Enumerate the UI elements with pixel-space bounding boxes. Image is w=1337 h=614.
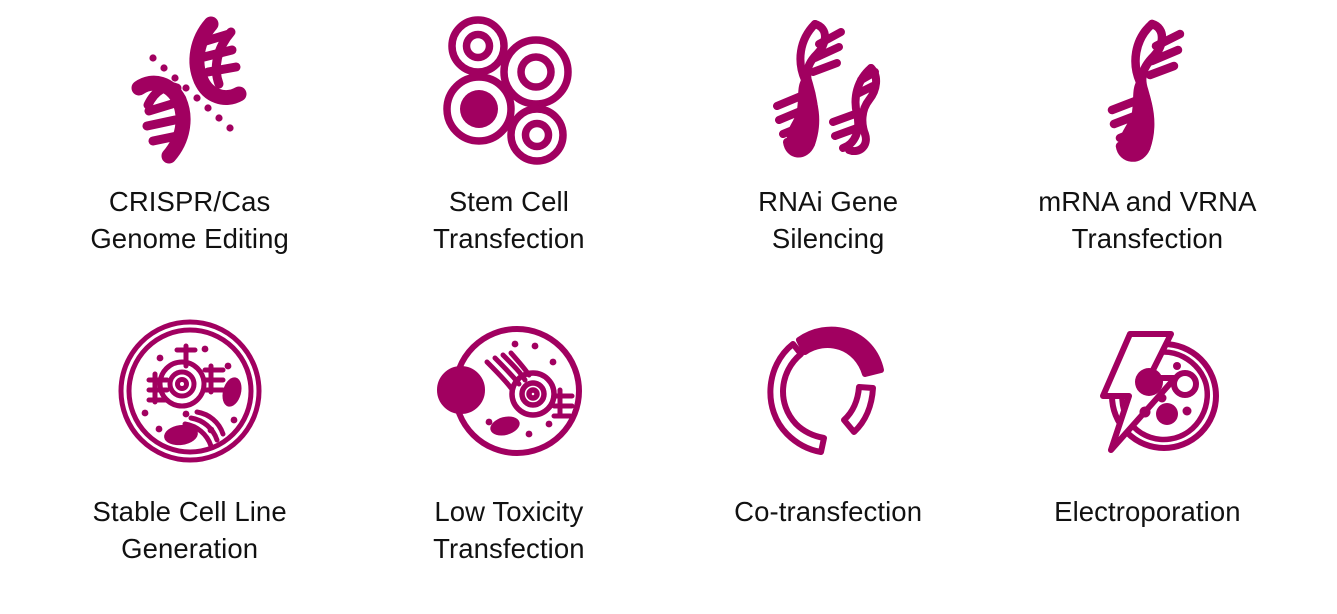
plasmid-arc-bottom-right bbox=[844, 387, 873, 432]
electroporation-icon bbox=[1067, 306, 1227, 476]
filled-blob bbox=[441, 370, 481, 410]
feature-item-rnai[interactable]: RNAi Gene Silencing bbox=[669, 6, 988, 306]
plasmid-arc-top-filled bbox=[799, 330, 881, 374]
plasmid-arc-left bbox=[771, 344, 825, 452]
rnai-strands-icon bbox=[753, 6, 903, 174]
organelle bbox=[488, 413, 522, 438]
stable-cell-line-icon bbox=[115, 306, 265, 476]
feature-item-stem-cell[interactable]: Stem Cell Transfection bbox=[349, 6, 668, 306]
filled-nucleus bbox=[460, 90, 498, 128]
feature-label: CRISPR/Cas Genome Editing bbox=[90, 184, 289, 257]
feature-item-electroporation[interactable]: Electroporation bbox=[988, 306, 1307, 606]
feature-label: Electroporation bbox=[1054, 494, 1240, 531]
feature-item-low-toxicity[interactable]: Low Toxicity Transfection bbox=[349, 306, 668, 606]
feature-grid: CRISPR/Cas Genome Editing bbox=[0, 0, 1337, 614]
feature-item-co-transfection[interactable]: Co-transfection bbox=[669, 306, 988, 606]
feature-item-mrna[interactable]: mRNA and VRNA Transfection bbox=[988, 6, 1307, 306]
feature-item-crispr[interactable]: CRISPR/Cas Genome Editing bbox=[30, 6, 349, 306]
feature-label: Stem Cell Transfection bbox=[433, 184, 585, 257]
stem-cell-colonies-icon bbox=[434, 6, 584, 174]
feature-label: RNAi Gene Silencing bbox=[758, 184, 898, 257]
low-toxicity-cell-icon bbox=[429, 306, 589, 476]
mrna-strand-icon bbox=[1082, 6, 1212, 174]
feature-label: mRNA and VRNA Transfection bbox=[1038, 184, 1256, 257]
crispr-dna-cut-icon bbox=[105, 6, 275, 174]
feature-item-stable-cell-line[interactable]: Stable Cell Line Generation bbox=[30, 306, 349, 606]
feature-label: Stable Cell Line Generation bbox=[93, 494, 287, 567]
feature-label: Co-transfection bbox=[734, 494, 922, 531]
co-transfection-plasmid-icon bbox=[753, 306, 903, 476]
feature-label: Low Toxicity Transfection bbox=[433, 494, 585, 567]
